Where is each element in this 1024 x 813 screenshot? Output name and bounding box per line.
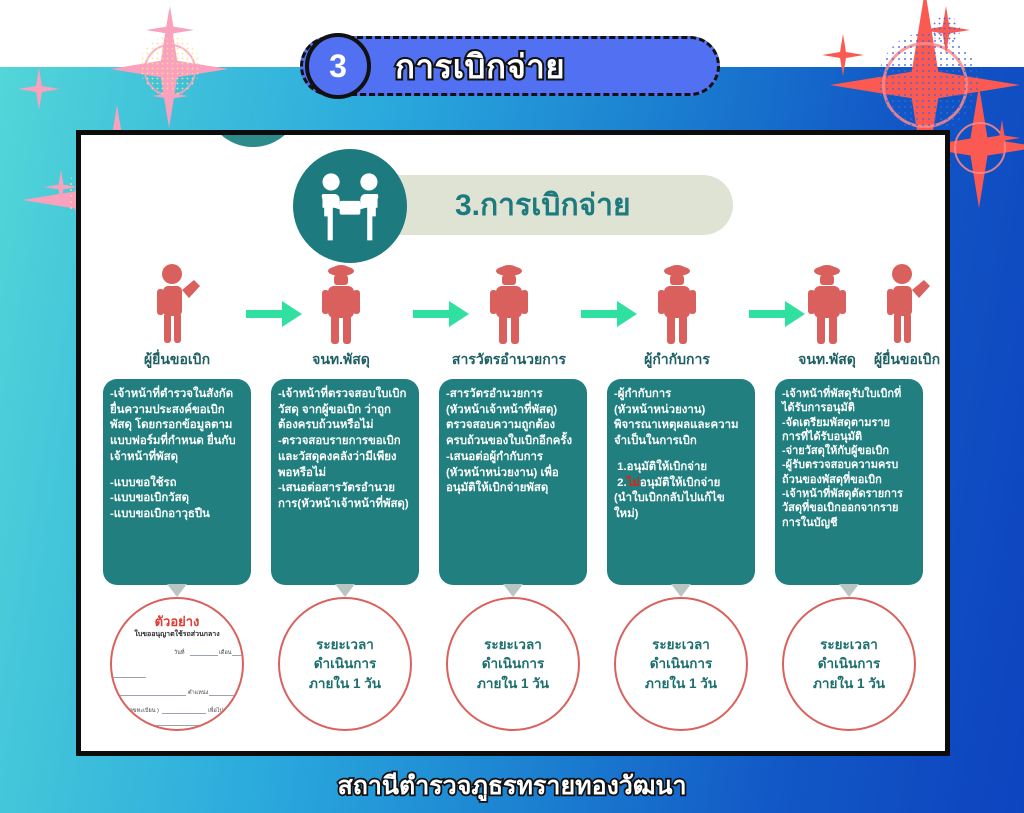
actor-4: จนท.พัสดุ bbox=[781, 263, 873, 371]
duration-line-1: ระยะเวลา bbox=[484, 635, 542, 655]
two-people-handover-icon bbox=[293, 149, 407, 263]
duration-circle-3: ระยะเวลา ดำเนินการ ภายใน 1 วัน bbox=[614, 597, 748, 731]
duration-line-2: ดำเนินการ bbox=[482, 654, 544, 674]
police-officer-icon bbox=[781, 263, 873, 345]
step-line: -แบบขอใช้รถ bbox=[110, 476, 244, 492]
step-line: ใหม่) bbox=[614, 507, 748, 523]
police-officer-icon bbox=[449, 263, 569, 345]
actor-label-3: ผู้กำกับการ bbox=[617, 349, 737, 371]
step-line: ครบถ้วนของใบเบิกอีกครั้ง bbox=[446, 434, 580, 450]
step-line: (หัวหน้าเจ้าหน้าที่พัสดุ) bbox=[446, 403, 580, 419]
actor-2: สารวัตรอำนวยการ bbox=[449, 263, 569, 371]
step-line: -ผู้รับตรวจสอบความครบ bbox=[782, 458, 916, 472]
step-line: 1.อนุมัติให้เบิกจ่าย bbox=[614, 460, 748, 476]
step-box-4: -เจ้าหน้าที่พัสดุรับใบเบิกที่ ได้รับการอ… bbox=[775, 379, 923, 585]
duration-line-2: ดำเนินการ bbox=[650, 654, 712, 674]
step-box-tail bbox=[335, 584, 355, 597]
step-line: การ(หัวหน้าเจ้าหน้าที่พัสดุ) bbox=[278, 497, 412, 513]
duration-line-3: ภายใน 1 วัน bbox=[477, 674, 549, 694]
step-box-2: -สารวัตรอำนวยการ (หัวหน้าเจ้าหน้าที่พัสด… bbox=[439, 379, 587, 585]
duration-line-1: ระยะเวลา bbox=[652, 635, 710, 655]
form-field-plate-rule bbox=[162, 713, 206, 714]
actor-label-2: สารวัตรอำนวยการ bbox=[449, 349, 569, 371]
duration-line-3: ภายใน 1 วัน bbox=[645, 674, 717, 694]
step-line: -เจ้าหน้าที่พัสดุตัดรายการ bbox=[782, 487, 916, 501]
actor-label-1: จนท.พัสดุ bbox=[281, 349, 401, 371]
actor-label-0: ผู้ยื่นขอเบิก bbox=[117, 349, 237, 371]
actor-label-4: จนท.พัสดุ bbox=[781, 349, 873, 371]
police-officer-icon bbox=[617, 263, 737, 345]
step-line-spacer bbox=[614, 450, 748, 460]
duration-circle-1: ระยะเวลา ดำเนินการ ภายใน 1 วัน bbox=[278, 597, 412, 731]
step-line: การในบัญชี bbox=[782, 516, 916, 530]
banner-title-text: การเบิกจ่าย bbox=[395, 40, 565, 93]
step-line: (หัวหน้าหน่วยงาน) เพื่อ bbox=[446, 466, 580, 482]
step-line: -เจ้าหน้าที่พัสดุรับใบเบิกที่ bbox=[782, 387, 916, 401]
step-line: -ผู้กำกับการ bbox=[614, 387, 748, 403]
form-field-purpose-label: เพื่อไปราชการ bbox=[208, 707, 242, 715]
step-line: -แบบขอเบิกวัสดุ bbox=[110, 491, 244, 507]
step-line: แบบฟอร์มที่กำหนด ยื่นกับ bbox=[110, 434, 244, 450]
step-line: -สารวัตรอำนวยการ bbox=[446, 387, 580, 403]
step-line: -เสนอต่อผู้กำกับการ bbox=[446, 450, 580, 466]
step-box-1: -เจ้าหน้าที่ตรวจสอบใบเบิก วัสดุ จากผู้ขอ… bbox=[271, 379, 419, 585]
police-officer-icon bbox=[281, 263, 401, 345]
step-line: พัสดุ โดยกรอกข้อมูลตาม bbox=[110, 418, 244, 434]
person-raising-hand-icon bbox=[861, 263, 950, 345]
duration-circle-2: ระยะเวลา ดำเนินการ ภายใน 1 วัน bbox=[446, 597, 580, 731]
step-line: -ตรวจสอบรายการขอเบิก bbox=[278, 434, 412, 450]
duration-line-3: ภายใน 1 วัน bbox=[813, 674, 885, 694]
step-line: ได้รับการอนุมัติ bbox=[782, 401, 916, 415]
step-line: -เจ้าหน้าที่ตรวจสอบใบเบิก bbox=[278, 387, 412, 403]
duration-line-2: ดำเนินการ bbox=[818, 654, 880, 674]
poster-root: การเบิกจ่าย 3 3.การเบิกจ่าย bbox=[0, 0, 1024, 813]
form-sample-subtitle: ใบขออนุญาตใช้รถส่วนกลาง bbox=[112, 629, 242, 640]
step-line: -แบบขอเบิกอาวุธปืน bbox=[110, 507, 244, 523]
form-field-position-label: ตำแหน่ง bbox=[188, 689, 208, 697]
step-line: วัสดุที่ขอเบิกออกจากราย bbox=[782, 501, 916, 515]
actor-1: จนท.พัสดุ bbox=[281, 263, 401, 371]
form-rule-1 bbox=[112, 677, 146, 678]
form-rule-2 bbox=[114, 695, 186, 696]
form-sample-circle: ตัวอย่าง ใบขออนุญาตใช้รถส่วนกลาง วันที่ … bbox=[110, 597, 244, 731]
form-field-date-label: วันที่ bbox=[174, 649, 184, 657]
actor-row: ผู้ยื่นขอเบิก bbox=[81, 263, 950, 373]
step-box-tail bbox=[671, 584, 691, 597]
form-field-plate-label: หมายเลขทะเบียน ) bbox=[114, 707, 159, 715]
step-line: ยื่นความประสงค์ขอเบิก bbox=[110, 403, 244, 419]
step-line: อนุมัติให้เบิกจ่ายพัสดุ bbox=[446, 481, 580, 497]
main-content-card: 3.การเบิกจ่าย bbox=[76, 130, 950, 756]
footer-organization-name: สถานีตำรวจภูธรทรายทองวัฒนา bbox=[0, 766, 1024, 806]
step-line: เจ้าหน้าที่พัสดุ bbox=[110, 450, 244, 466]
banner-step-number-badge: 3 bbox=[305, 33, 371, 99]
duration-line-3: ภายใน 1 วัน bbox=[309, 674, 381, 694]
step-line: ต้องครบถ้วนหรือไม่ bbox=[278, 418, 412, 434]
person-raising-hand-icon bbox=[117, 263, 237, 345]
step-line: -เสนอต่อสารวัตรอำนวย bbox=[278, 481, 412, 497]
step-line: (หัวหน้าหน่วยงาน) bbox=[614, 403, 748, 419]
actor-0: ผู้ยื่นขอเบิก bbox=[117, 263, 237, 371]
step-line: จำเป็นในการเบิก bbox=[614, 434, 748, 450]
step-line: พิจารณาเหตุผลและความ bbox=[614, 418, 748, 434]
step-line: ถ้วนของพัสดุที่ขอเบิก bbox=[782, 473, 916, 487]
duration-circle-4: ระยะเวลา ดำเนินการ ภายใน 1 วัน bbox=[782, 597, 916, 731]
step-line: -เจ้าหน้าที่ตำรวจในสังกัด bbox=[110, 387, 244, 403]
form-field-month-label: เดือน bbox=[219, 649, 232, 657]
step-box-tail bbox=[167, 584, 187, 597]
step-box-tail bbox=[503, 584, 523, 597]
step-line: การที่ได้รับอนุมัติ bbox=[782, 430, 916, 444]
step-line: พอหรือไม่ bbox=[278, 466, 412, 482]
form-field-position-rule bbox=[209, 695, 244, 696]
decorative-teal-circle bbox=[205, 130, 301, 147]
duration-line-2: ดำเนินการ bbox=[314, 654, 376, 674]
step-line: (นำใบเบิกกลับไปแก้ไข bbox=[614, 491, 748, 507]
step-line: วัสดุ จากผู้ขอเบิก ว่าถูก bbox=[278, 403, 412, 419]
highlight-word: ไม่ bbox=[627, 477, 640, 489]
step-box-0: -เจ้าหน้าที่ตำรวจในสังกัด ยื่นความประสงค… bbox=[103, 379, 251, 585]
form-field-date-rule bbox=[190, 655, 218, 656]
step-line: ตรวจสอบความถูกต้อง bbox=[446, 418, 580, 434]
card-header-title: 3.การเบิกจ่าย bbox=[455, 182, 631, 229]
duration-line-1: ระยะเวลา bbox=[316, 635, 374, 655]
step-box-3: -ผู้กำกับการ (หัวหน้าหน่วยงาน) พิจารณาเห… bbox=[607, 379, 755, 585]
card-header-pill: 3.การเบิกจ่าย bbox=[353, 175, 733, 235]
step-box-tail bbox=[839, 584, 859, 597]
actor-5: ผู้ยื่นขอเบิก bbox=[861, 263, 950, 371]
actor-3: ผู้กำกับการ bbox=[617, 263, 737, 371]
form-rule-3 bbox=[130, 725, 230, 726]
step-line: และวัสดุคงคลังว่ามีเพียง bbox=[278, 450, 412, 466]
step-line-option-2: 2.ไม่อนุมัติให้เบิกจ่าย bbox=[614, 476, 748, 492]
step-line: -จัดเตรียมพัสดุตามราย bbox=[782, 416, 916, 430]
actor-label-5: ผู้ยื่นขอเบิก bbox=[861, 349, 950, 371]
step-line-spacer bbox=[110, 466, 244, 476]
duration-line-1: ระยะเวลา bbox=[820, 635, 878, 655]
form-field-month-rule bbox=[232, 655, 244, 656]
step-line: -จ่ายวัสดุให้กับผู้ขอเบิก bbox=[782, 444, 916, 458]
